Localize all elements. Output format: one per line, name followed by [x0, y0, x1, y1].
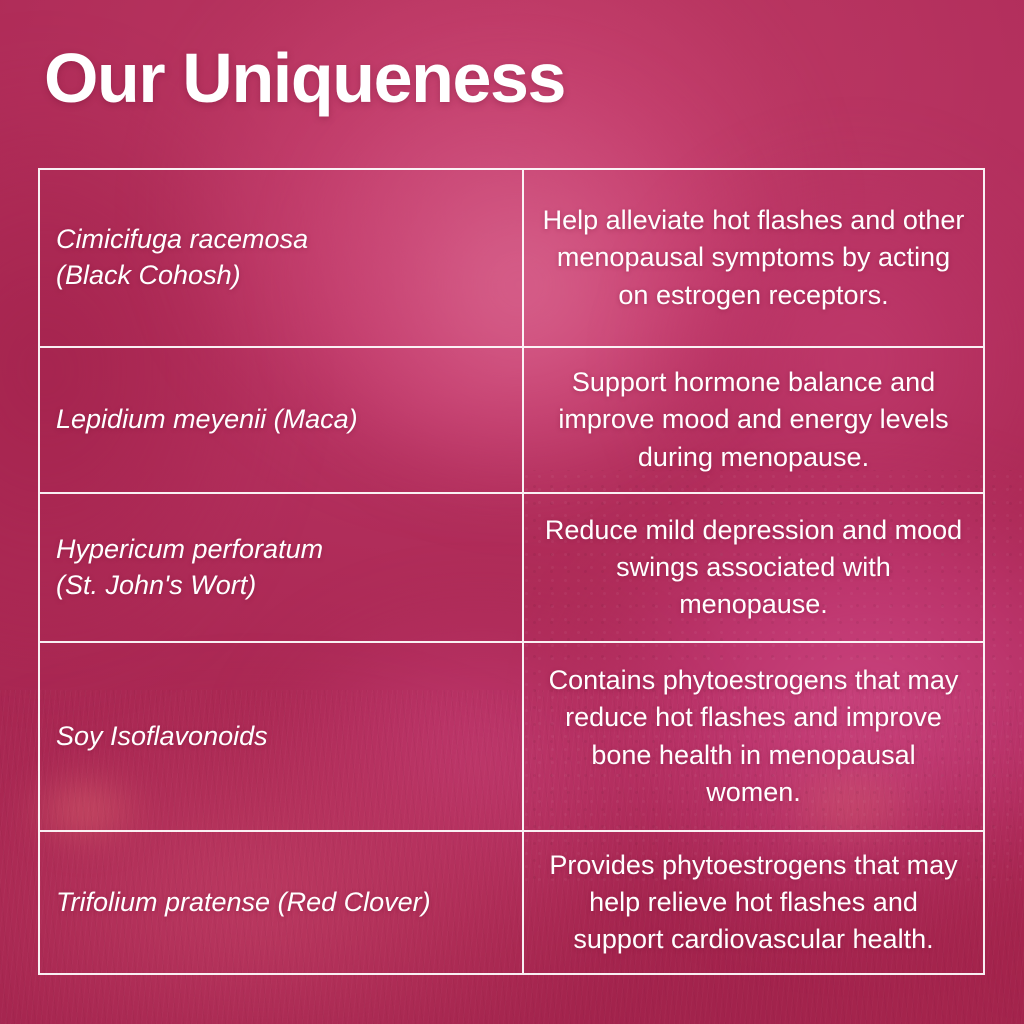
- benefit-label: Help alleviate hot flashes and other men…: [542, 202, 965, 314]
- ingredient-cell: Trifolium pratense (Red Clover): [40, 832, 524, 973]
- benefit-cell: Contains phytoestrogens that may reduce …: [524, 643, 983, 830]
- table-row: Soy IsoflavonoidsContains phytoestrogens…: [40, 643, 983, 832]
- benefits-table: Cimicifuga racemosa(Black Cohosh)Help al…: [38, 168, 985, 975]
- benefit-cell: Provides phytoestrogens that may help re…: [524, 832, 983, 973]
- table-row: Lepidium meyenii (Maca)Support hormone b…: [40, 348, 983, 494]
- benefit-cell: Help alleviate hot flashes and other men…: [524, 170, 983, 346]
- table-row: Hypericum perforatum(St. John's Wort)Red…: [40, 494, 983, 643]
- ingredient-cell: Cimicifuga racemosa(Black Cohosh): [40, 170, 524, 346]
- ingredient-label: Soy Isoflavonoids: [56, 719, 268, 755]
- ingredient-label: Trifolium pratense (Red Clover): [56, 885, 431, 921]
- ingredient-label: Hypericum perforatum(St. John's Wort): [56, 532, 323, 603]
- ingredient-label: Cimicifuga racemosa(Black Cohosh): [56, 222, 308, 293]
- ingredient-label: Lepidium meyenii (Maca): [56, 402, 358, 438]
- poster: Our Uniqueness Cimicifuga racemosa(Black…: [0, 0, 1024, 1024]
- table-row: Cimicifuga racemosa(Black Cohosh)Help al…: [40, 170, 983, 348]
- page-title: Our Uniqueness: [44, 42, 565, 115]
- benefit-label: Provides phytoestrogens that may help re…: [542, 847, 965, 959]
- benefit-cell: Reduce mild depression and mood swings a…: [524, 494, 983, 641]
- ingredient-cell: Soy Isoflavonoids: [40, 643, 524, 830]
- benefit-label: Reduce mild depression and mood swings a…: [542, 512, 965, 624]
- benefit-label: Support hormone balance and improve mood…: [542, 364, 965, 476]
- poster-content: Our Uniqueness Cimicifuga racemosa(Black…: [0, 0, 1024, 1024]
- benefit-cell: Support hormone balance and improve mood…: [524, 348, 983, 492]
- ingredient-cell: Hypericum perforatum(St. John's Wort): [40, 494, 524, 641]
- benefit-label: Contains phytoestrogens that may reduce …: [542, 662, 965, 811]
- ingredient-cell: Lepidium meyenii (Maca): [40, 348, 524, 492]
- table-row: Trifolium pratense (Red Clover)Provides …: [40, 832, 983, 973]
